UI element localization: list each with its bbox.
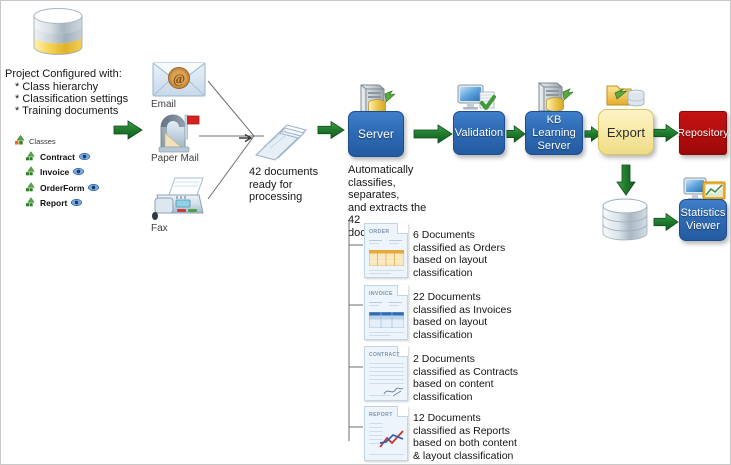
database-cylinder-icon [29, 7, 87, 68]
project-config-header: Project Configured with: [5, 68, 147, 81]
class-node-icon [26, 166, 36, 178]
repository-node[interactable]: Repository [679, 111, 727, 155]
arrow-server-to-validation [413, 123, 453, 145]
statistics-database-icon [599, 197, 651, 250]
class-node-icon [26, 182, 36, 194]
tree-item-label: Contract [40, 152, 75, 162]
tree-item-report[interactable]: Report [26, 197, 99, 209]
line-chart-icon [378, 429, 406, 451]
eye-icon[interactable] [79, 152, 90, 162]
input-label-fax: Fax [151, 223, 191, 234]
kb-learning-server-label: KB Learning Server [526, 114, 582, 153]
report-document-thumbnail: REPORT [364, 406, 408, 461]
arrow-export-to-stats-db [615, 164, 637, 196]
tree-root-classes[interactable]: Classes [15, 135, 99, 147]
doc-title: INVOICE [369, 291, 393, 297]
workflow-diagram: Project Configured with: * Class hierarc… [0, 0, 731, 465]
page-fold-icon [397, 223, 408, 234]
statistics-viewer-node[interactable]: Statistics Viewer [679, 199, 727, 241]
tree-item-label: Invoice [40, 167, 69, 177]
contract-document-thumbnail: CONTRACT [364, 346, 408, 401]
eye-icon[interactable] [88, 183, 99, 193]
page-fold-icon [397, 406, 408, 417]
classified-doc-text-invoices: 22 Documents classified as Invoices base… [413, 291, 538, 341]
arrow-statsdb-to-viewer [653, 211, 679, 233]
classified-doc-text-orders: 6 Documents classified as Orders based o… [413, 229, 533, 279]
document-stack-icon [253, 119, 309, 166]
tree-item-invoice[interactable]: Invoice [26, 166, 99, 178]
arrow-validation-to-kb [506, 123, 526, 145]
classified-doc-text-contracts: 2 Documents classified as Contracts base… [413, 353, 541, 403]
eye-icon[interactable] [73, 167, 84, 177]
eye-icon[interactable] [71, 198, 82, 208]
page-fold-icon [397, 285, 408, 296]
arrow-export-to-repository [653, 122, 679, 144]
doc-title: ORDER [369, 229, 389, 235]
doc-title: CONTRACT [369, 352, 400, 358]
server-label: Server [358, 128, 394, 141]
classes-root-icon [15, 135, 26, 147]
arrow-batch-to-server [317, 119, 345, 141]
order-document-thumbnail: ORDER [364, 223, 408, 278]
validation-label: Validation [455, 127, 504, 140]
kb-learning-server-node[interactable]: KB Learning Server [525, 111, 583, 155]
classified-doc-text-reports: 12 Documents classified as Reports based… [413, 412, 545, 462]
class-node-icon [26, 151, 36, 163]
tree-root-label: Classes [29, 137, 56, 146]
statistics-viewer-label: Statistics Viewer [680, 207, 725, 233]
tree-item-label: Report [40, 198, 67, 208]
arrow-inputs-to-batch [239, 130, 253, 148]
arrow-project-to-inputs [113, 119, 143, 141]
invoice-document-thumbnail: INVOICE [364, 285, 408, 340]
class-hierarchy-tree[interactable]: Classes Contract [15, 135, 99, 209]
tree-item-contract[interactable]: Contract [26, 151, 99, 163]
export-node[interactable]: Export [598, 109, 654, 155]
class-node-icon [26, 197, 36, 209]
export-label: Export [607, 126, 645, 139]
server-node[interactable]: Server [348, 111, 404, 157]
svg-text:@: @ [173, 71, 185, 86]
tree-item-label: OrderForm [40, 183, 84, 193]
project-config-bullet-3: * Training documents [15, 105, 157, 118]
project-config-bullet-1: * Class hierarchy [15, 81, 157, 94]
validation-node[interactable]: Validation [453, 111, 505, 155]
tree-item-orderform[interactable]: OrderForm [26, 182, 99, 194]
project-config-bullet-2: * Classification settings [15, 93, 157, 106]
batch-caption: 42 documents ready for processing [249, 166, 334, 204]
repository-label: Repository [677, 127, 728, 140]
doc-title: REPORT [369, 412, 393, 418]
